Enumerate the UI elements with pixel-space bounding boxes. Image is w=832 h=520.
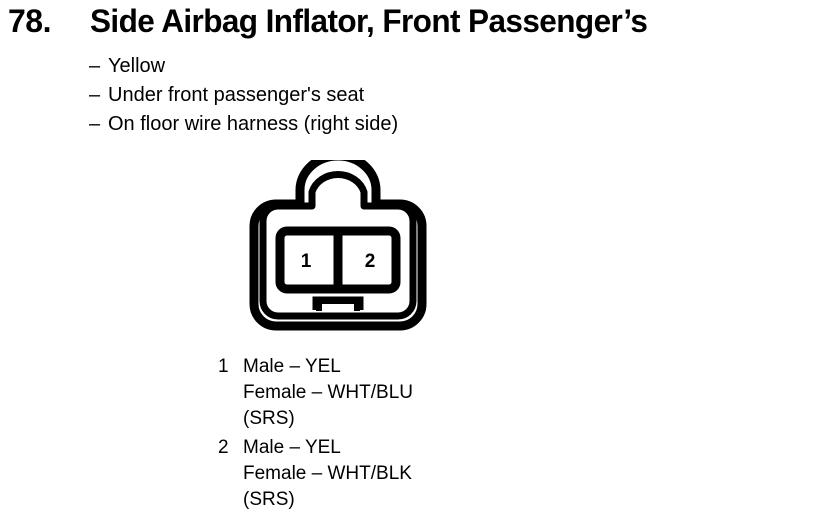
pin-legend-line: 2 Male – YEL [218, 435, 638, 461]
pin-system-tag: (SRS) [243, 406, 295, 432]
pin-legend-entry: 1 Male – YEL Female – WHT/BLU (SRS) [218, 354, 638, 432]
pin-wire-spec: Female – WHT/BLU [243, 380, 413, 406]
pin-legend-line: (SRS) [218, 406, 638, 432]
pin-wire-spec: Female – WHT/BLK [243, 461, 412, 487]
attribute-label: On floor wire harness (right side) [108, 110, 398, 139]
cavity-block [280, 231, 396, 289]
page-header: 78. Side Airbag Inflator, Front Passenge… [0, 0, 832, 44]
page-title: Side Airbag Inflator, Front Passenger’s [90, 1, 647, 41]
attribute-item: – On floor wire harness (right side) [89, 110, 609, 139]
connector-bottom-notch [316, 299, 360, 311]
attribute-item: – Under front passenger's seat [89, 81, 609, 110]
dash-bullet-icon: – [89, 52, 108, 81]
pin-legend-line: Female – WHT/BLK [218, 461, 638, 487]
pin-system-tag: (SRS) [243, 487, 295, 513]
attribute-label: Yellow [108, 52, 165, 81]
entry-number: 78. [8, 1, 51, 41]
pin-legend-line: 1 Male – YEL [218, 354, 638, 380]
cavity-label-2: 2 [365, 251, 376, 272]
pin-number: 2 [218, 435, 243, 461]
pin-wire-spec: Male – YEL [243, 354, 341, 380]
pin-legend-line: Female – WHT/BLU [218, 380, 638, 406]
pin-wire-spec: Male – YEL [243, 435, 341, 461]
dash-bullet-icon: – [89, 81, 108, 110]
connector-diagram: 1 2 [240, 160, 436, 338]
attribute-item: – Yellow [89, 52, 609, 81]
pin-legend: 1 Male – YEL Female – WHT/BLU (SRS) 2 Ma… [218, 354, 638, 516]
pin-number: 1 [218, 354, 243, 380]
pin-legend-line: (SRS) [218, 487, 638, 513]
pin-legend-entry: 2 Male – YEL Female – WHT/BLK (SRS) [218, 435, 638, 513]
dash-bullet-icon: – [89, 110, 108, 139]
attribute-label: Under front passenger's seat [108, 81, 364, 110]
attribute-list: – Yellow – Under front passenger's seat … [89, 52, 609, 139]
cavity-label-1: 1 [301, 251, 312, 272]
